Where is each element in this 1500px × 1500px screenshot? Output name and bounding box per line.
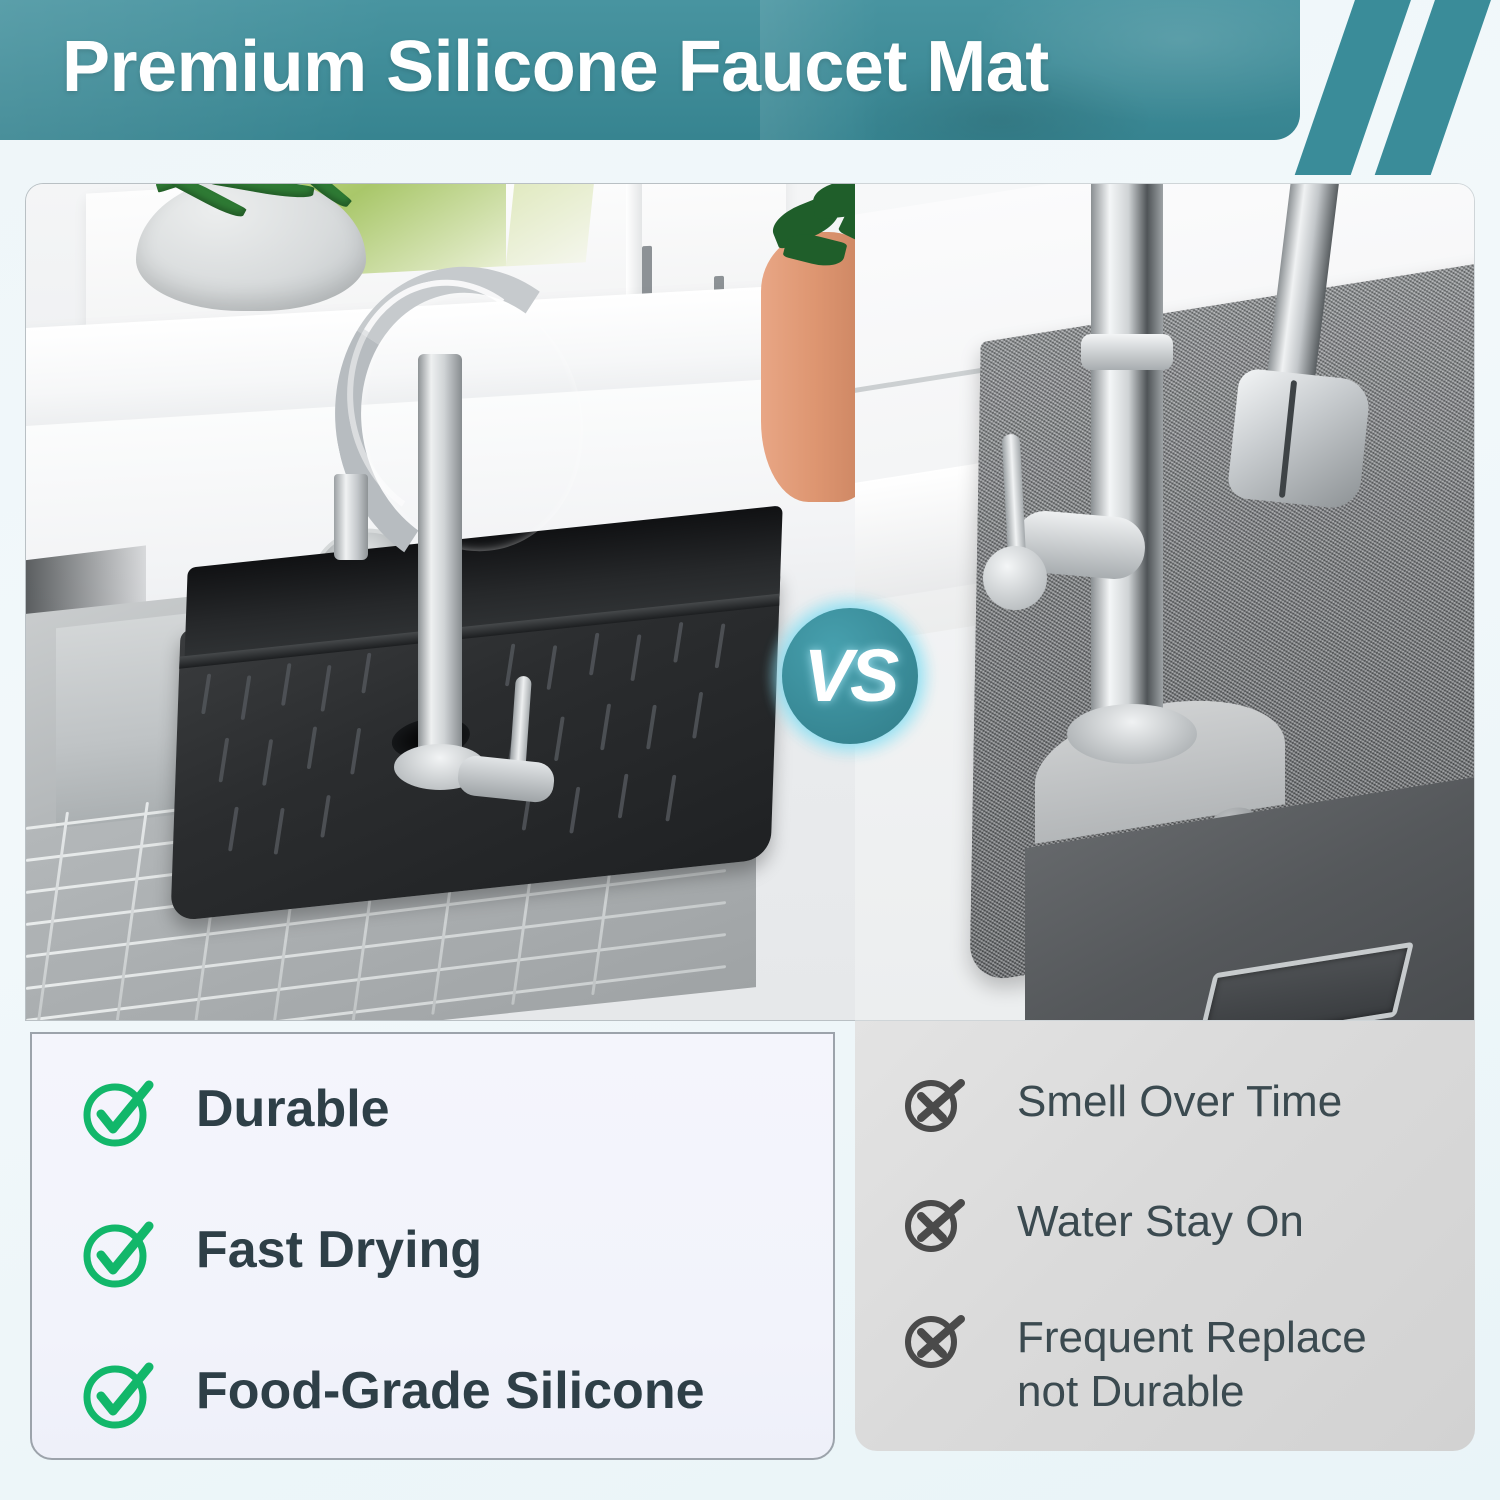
page-title: Premium Silicone Faucet Mat — [62, 26, 1049, 108]
list-item-label: Food-Grade Silicone — [196, 1358, 705, 1419]
check-circle-icon — [80, 1358, 154, 1432]
list-item: Food-Grade Silicone — [80, 1358, 705, 1432]
faucet-spout — [334, 474, 368, 560]
faucet-column — [418, 354, 462, 774]
list-item: Water Stay On — [903, 1193, 1304, 1255]
vs-label: VS — [804, 639, 897, 713]
list-item: Smell Over Time — [903, 1073, 1342, 1135]
list-item: Frequent Replace not Durable — [903, 1309, 1367, 1418]
right-faucet-base — [1067, 704, 1197, 764]
pros-panel: Durable Fast Drying Fo — [30, 1032, 835, 1460]
right-product-photo — [855, 183, 1475, 1021]
right-spray-head — [1227, 367, 1372, 510]
list-item-label: Water Stay On — [1017, 1193, 1304, 1249]
fern-plant — [144, 183, 364, 234]
check-circle-icon — [80, 1076, 154, 1150]
comparison-photos — [25, 183, 1475, 1021]
cross-circle-icon — [903, 1309, 965, 1371]
header-banner: Premium Silicone Faucet Mat — [0, 0, 1300, 140]
leafy-plant — [761, 183, 855, 294]
list-item-label: Smell Over Time — [1017, 1073, 1342, 1129]
right-handle-cap — [983, 546, 1047, 610]
right-faucet-column — [1091, 183, 1163, 724]
window-glass-pane-2 — [506, 183, 599, 266]
list-item-label: Fast Drying — [196, 1217, 482, 1278]
cross-circle-icon — [903, 1073, 965, 1135]
list-item: Fast Drying — [80, 1217, 482, 1291]
cons-panel: Smell Over Time Water Stay On — [855, 1021, 1475, 1451]
left-product-photo — [25, 183, 855, 1021]
vs-circle: VS — [782, 608, 918, 744]
vs-badge: VS — [766, 592, 934, 760]
list-item-label: Frequent Replace not Durable — [1017, 1309, 1367, 1418]
right-faucet-ring — [1081, 334, 1173, 370]
cross-circle-icon — [903, 1193, 965, 1255]
check-circle-icon — [80, 1217, 154, 1291]
list-item-label: Durable — [196, 1076, 390, 1137]
list-item: Durable — [80, 1076, 390, 1150]
infographic-canvas: Premium Silicone Faucet Mat — [0, 0, 1500, 1500]
